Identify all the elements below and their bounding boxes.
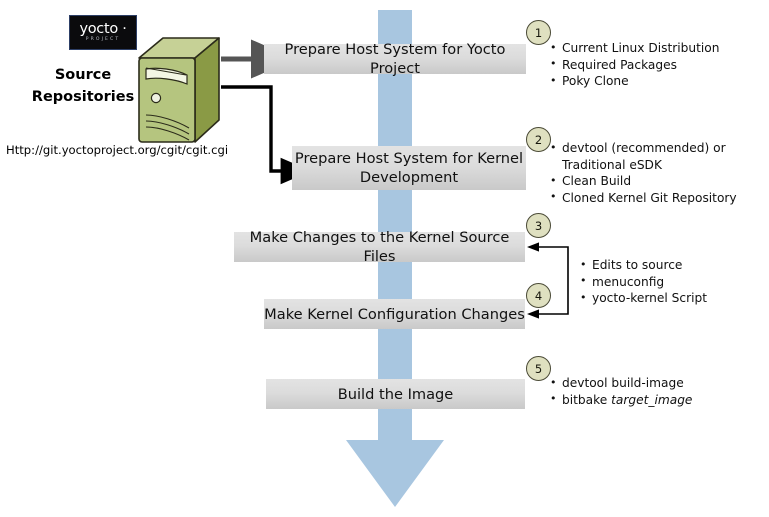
bullet-text: Poky Clone xyxy=(562,74,629,88)
list-item: Current Linux Distribution xyxy=(550,40,719,57)
bullet-text: Cloned Kernel Git Repository xyxy=(562,191,737,205)
source-repository-url: Http://git.yoctoproject.org/cgit/cgit.cg… xyxy=(6,143,228,157)
list-item: Cloned Kernel Git Repository xyxy=(550,190,737,207)
step-badge-5: 5 xyxy=(526,356,551,381)
step-badge-1: 1 xyxy=(526,20,551,45)
step-box-4[interactable]: Make Kernel Configuration Changes xyxy=(264,299,525,329)
list-item: menuconfig xyxy=(580,274,707,291)
list-item: Required Packages xyxy=(550,57,719,74)
step-box-3[interactable]: Make Changes to the Kernel Source Files xyxy=(234,232,525,262)
list-item: devtool (recommended) or Traditional eSD… xyxy=(550,140,737,173)
bullet-text: devtool (recommended) or xyxy=(562,141,726,155)
bullet-text: menuconfig xyxy=(592,275,664,289)
logo-wordmark: yocto · xyxy=(79,22,126,37)
bullet-text: Required Packages xyxy=(562,58,677,72)
step-5-bullet-list: devtool build-image bitbake target_image xyxy=(550,375,692,408)
arrowhead-to-step4 xyxy=(527,309,539,318)
step-1-bullet-list: Current Linux Distribution Required Pack… xyxy=(550,40,719,90)
arrow-server-to-step2 xyxy=(221,87,284,171)
steps-3-4-bullet-list: Edits to source menuconfig yocto-kernel … xyxy=(580,257,707,307)
bullet-text: devtool build-image xyxy=(562,376,684,390)
step-badge-4: 4 xyxy=(526,283,551,308)
source-label-line1: Source xyxy=(24,64,142,86)
list-item: yocto-kernel Script xyxy=(580,290,707,307)
list-item: Clean Build xyxy=(550,173,737,190)
list-item: devtool build-image xyxy=(550,375,692,392)
logo-subtext: PROJECT xyxy=(86,38,121,43)
step-2-bullet-list: devtool (recommended) or Traditional eSD… xyxy=(550,140,737,206)
step-box-2[interactable]: Prepare Host System for Kernel Developme… xyxy=(292,146,526,190)
yocto-project-logo: yocto · PROJECT xyxy=(69,15,137,50)
step-box-5[interactable]: Build the Image xyxy=(266,379,525,409)
bullet-text-italic: target_image xyxy=(611,393,692,407)
list-item: Poky Clone xyxy=(550,73,719,90)
list-item: bitbake target_image xyxy=(550,392,692,409)
diagram-canvas: yocto · PROJECT Source Repositories Http… xyxy=(0,0,769,517)
bullet-text: yocto-kernel Script xyxy=(592,291,707,305)
source-label-line2: Repositories xyxy=(24,86,142,108)
bullet-text: Current Linux Distribution xyxy=(562,41,719,55)
step-badge-2: 2 xyxy=(526,127,551,152)
list-item: Edits to source xyxy=(580,257,707,274)
bullet-text: Edits to source xyxy=(592,258,682,272)
step-badge-3: 3 xyxy=(526,213,551,238)
bullet-text-continued: Traditional eSDK xyxy=(562,157,737,174)
bullet-text: Clean Build xyxy=(562,174,631,188)
source-repositories-label: Source Repositories xyxy=(24,64,142,108)
server-tower-icon xyxy=(137,36,221,144)
arrowhead-to-step3 xyxy=(527,242,539,251)
bullet-text: bitbake xyxy=(562,393,611,407)
step-box-1[interactable]: Prepare Host System for Yocto Project xyxy=(264,44,526,74)
